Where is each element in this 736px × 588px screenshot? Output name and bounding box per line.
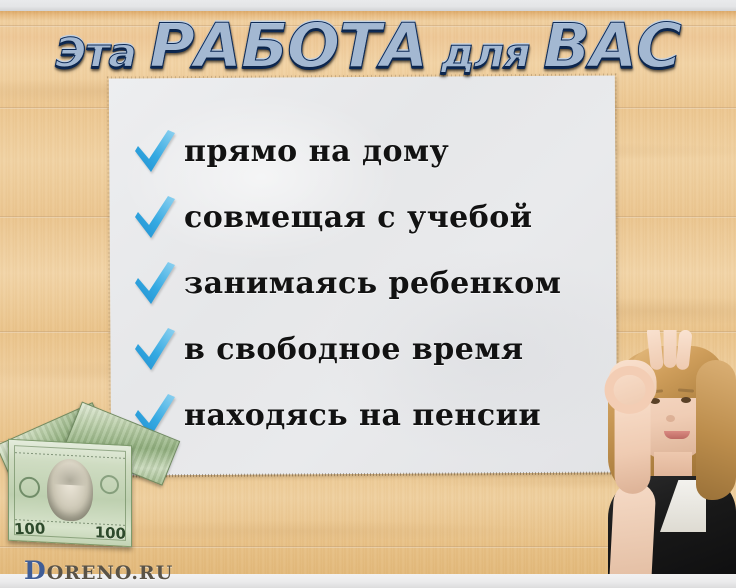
check-icon: [132, 325, 178, 373]
title-word-rabota: РАБОТА: [149, 10, 427, 83]
watermark: DORENO.RU: [24, 556, 173, 585]
list-item: совмещая с учебой: [132, 184, 612, 250]
woman-hair-front: [696, 360, 736, 500]
bill-seal-left: [19, 476, 40, 498]
bill-denomination: 100: [95, 523, 126, 543]
title-word-eta: Эта: [55, 29, 149, 78]
benefits-checklist: прямо на дому совмещая с учебой: [132, 118, 612, 448]
check-icon: [132, 259, 178, 307]
poster-image: Эта РАБОТА для ВАС прямо на дому: [0, 0, 736, 588]
bill-portrait: [47, 458, 93, 522]
woman-nose: [666, 415, 675, 422]
bill-microline: [15, 519, 125, 526]
woman-palm: [609, 360, 657, 406]
list-item-label: в свободное время: [184, 332, 524, 367]
list-item-label: занимаясь ребенком: [184, 266, 561, 301]
money-house-icon: 100 100: [2, 382, 170, 560]
page-title: Эта РАБОТА для ВАС: [0, 16, 736, 78]
woman-mouth: [664, 431, 690, 439]
list-item: находясь на пенсии: [132, 382, 612, 448]
list-item: в свободное время: [132, 316, 612, 382]
check-icon: [132, 127, 178, 175]
woman-eye-right: [681, 397, 691, 403]
money-house-front-bill: 100 100: [8, 439, 132, 547]
list-item-label: совмещая с учебой: [184, 200, 533, 235]
bill-seal-right: [100, 475, 119, 495]
bill-microline: [15, 452, 125, 459]
woman-finger: [664, 330, 677, 368]
list-item-label: прямо на дому: [184, 134, 449, 169]
title-word-dlya: для: [427, 29, 543, 78]
woman-finger: [646, 330, 664, 370]
watermark-initial: D: [24, 556, 47, 585]
bill-denomination-left: 100: [13, 520, 45, 539]
woman-forearm: [615, 390, 651, 494]
list-item: занимаясь ребенком: [132, 250, 612, 316]
list-item: прямо на дому: [132, 118, 612, 184]
list-item-label: находясь на пенсии: [184, 398, 541, 433]
woman-ok-gesture-icon: [578, 330, 736, 574]
check-icon: [132, 193, 178, 241]
woman-arm: [610, 481, 657, 574]
title-word-vas: ВАС: [543, 10, 681, 83]
watermark-text: ORENO.RU: [47, 562, 174, 584]
woman-ok-ring: [605, 366, 655, 414]
